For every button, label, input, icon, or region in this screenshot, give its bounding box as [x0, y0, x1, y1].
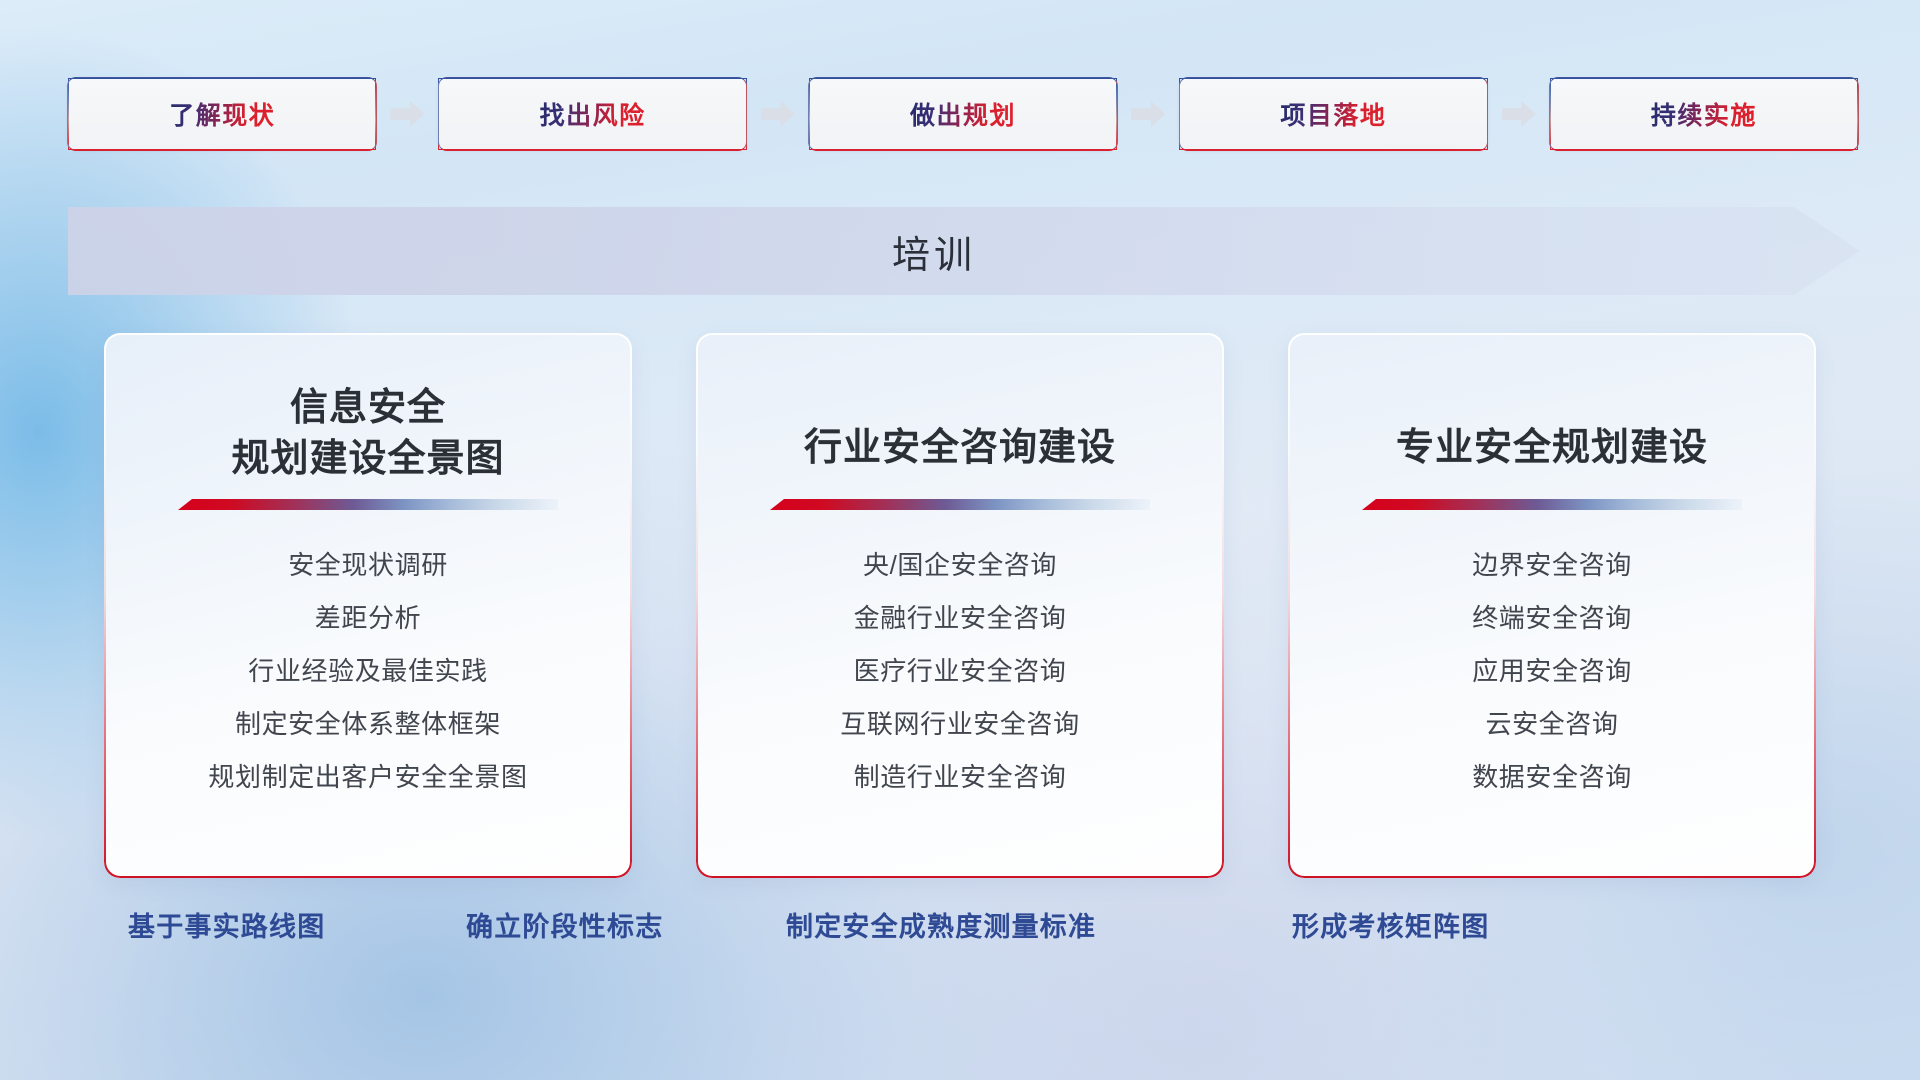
list-item: 医疗行业安全咨询	[854, 652, 1067, 691]
arrow-right-icon	[761, 101, 795, 127]
list-item: 终端安全咨询	[1472, 599, 1632, 638]
list-item: 云安全咨询	[1485, 705, 1618, 744]
step-arrow-3	[1117, 78, 1179, 150]
process-step-2[interactable]: 找出风险	[438, 78, 746, 150]
list-item: 数据安全咨询	[1472, 758, 1632, 797]
process-step-label: 了解现状	[169, 96, 275, 132]
process-step-label: 做出规划	[910, 96, 1016, 132]
list-item: 行业经验及最佳实践	[248, 652, 487, 691]
list-item: 规划制定出客户安全全景图	[208, 758, 527, 797]
list-item: 央/国企安全咨询	[863, 546, 1057, 585]
card-row: 信息安全 规划建设全景图 安全现状调研 差距分析 行业经验及最佳实践 制定安全体…	[0, 333, 1920, 878]
caption-4: 形成考核矩阵图	[1292, 905, 1489, 944]
process-step-label: 找出风险	[540, 96, 646, 132]
card-item-list: 央/国企安全咨询 金融行业安全咨询 医疗行业安全咨询 互联网行业安全咨询 制造行…	[722, 546, 1198, 797]
card-accent-divider	[1362, 499, 1742, 510]
card-content: 信息安全 规划建设全景图 安全现状调研 差距分析 行业经验及最佳实践 制定安全体…	[130, 367, 606, 878]
card-accent-divider	[770, 499, 1150, 510]
list-item: 互联网行业安全咨询	[840, 705, 1079, 744]
card-item-list: 安全现状调研 差距分析 行业经验及最佳实践 制定安全体系整体框架 规划制定出客户…	[130, 546, 606, 797]
card-content: 专业安全规划建设 边界安全咨询 终端安全咨询 应用安全咨询 云安全咨询 数据安全…	[1314, 367, 1790, 878]
list-item: 金融行业安全咨询	[854, 599, 1067, 638]
card-divider-wrap	[130, 499, 606, 510]
list-item: 差距分析	[315, 599, 421, 638]
step-arrow-4	[1488, 78, 1550, 150]
service-card-3[interactable]: 专业安全规划建设 边界安全咨询 终端安全咨询 应用安全咨询 云安全咨询 数据安全…	[1288, 333, 1816, 878]
process-step-label: 持续实施	[1651, 96, 1757, 132]
card-accent-divider	[178, 499, 558, 510]
card-title-zone: 行业安全咨询建设	[722, 367, 1198, 499]
card-item-list: 边界安全咨询 终端安全咨询 应用安全咨询 云安全咨询 数据安全咨询	[1314, 546, 1790, 797]
list-item: 边界安全咨询	[1472, 546, 1632, 585]
card-content: 行业安全咨询建设 央/国企安全咨询 金融行业安全咨询 医疗行业安全咨询 互联网行…	[722, 367, 1198, 878]
arrow-right-icon	[390, 101, 424, 127]
slide-canvas: 了解现状 找出风险 做出规划 项目落地 持续实施 培训	[0, 0, 1920, 1080]
list-item: 制造行业安全咨询	[854, 758, 1067, 797]
list-item: 安全现状调研	[288, 546, 448, 585]
process-step-4[interactable]: 项目落地	[1179, 78, 1487, 150]
card-title-line-2: 规划建设全景图	[231, 434, 504, 485]
process-step-3[interactable]: 做出规划	[809, 78, 1117, 150]
list-item: 制定安全体系整体框架	[235, 705, 501, 744]
service-card-2[interactable]: 行业安全咨询建设 央/国企安全咨询 金融行业安全咨询 医疗行业安全咨询 互联网行…	[696, 333, 1224, 878]
process-step-row: 了解现状 找出风险 做出规划 项目落地 持续实施	[68, 78, 1858, 150]
process-step-1[interactable]: 了解现状	[68, 78, 376, 150]
list-item: 应用安全咨询	[1472, 652, 1632, 691]
arrow-right-icon	[1131, 101, 1165, 127]
card-title-zone: 专业安全规划建设	[1314, 367, 1790, 499]
training-banner-label: 培训	[892, 224, 976, 279]
process-step-label: 项目落地	[1280, 96, 1386, 132]
training-banner-arrow: 培训	[68, 207, 1860, 295]
caption-1: 基于事实路线图	[128, 905, 325, 944]
card-title-line-1: 行业安全咨询建设	[804, 423, 1116, 474]
card-title-zone: 信息安全 规划建设全景图	[130, 367, 606, 499]
arrow-right-icon	[1502, 101, 1536, 127]
service-card-1[interactable]: 信息安全 规划建设全景图 安全现状调研 差距分析 行业经验及最佳实践 制定安全体…	[104, 333, 632, 878]
caption-3: 制定安全成熟度测量标准	[786, 905, 1096, 944]
card-title: 行业安全咨询建设	[804, 423, 1116, 474]
step-arrow-1	[376, 78, 438, 150]
card-title: 专业安全规划建设	[1396, 423, 1708, 474]
caption-2: 确立阶段性标志	[466, 905, 663, 944]
process-step-5[interactable]: 持续实施	[1550, 78, 1858, 150]
card-divider-wrap	[1314, 499, 1790, 510]
caption-row: 基于事实路线图 确立阶段性标志 制定安全成熟度测量标准 形成考核矩阵图	[0, 905, 1920, 967]
step-arrow-2	[747, 78, 809, 150]
card-title-line-1: 专业安全规划建设	[1396, 423, 1708, 474]
card-divider-wrap	[722, 499, 1198, 510]
card-title-line-1: 信息安全	[231, 383, 504, 434]
card-title: 信息安全 规划建设全景图	[231, 383, 504, 485]
